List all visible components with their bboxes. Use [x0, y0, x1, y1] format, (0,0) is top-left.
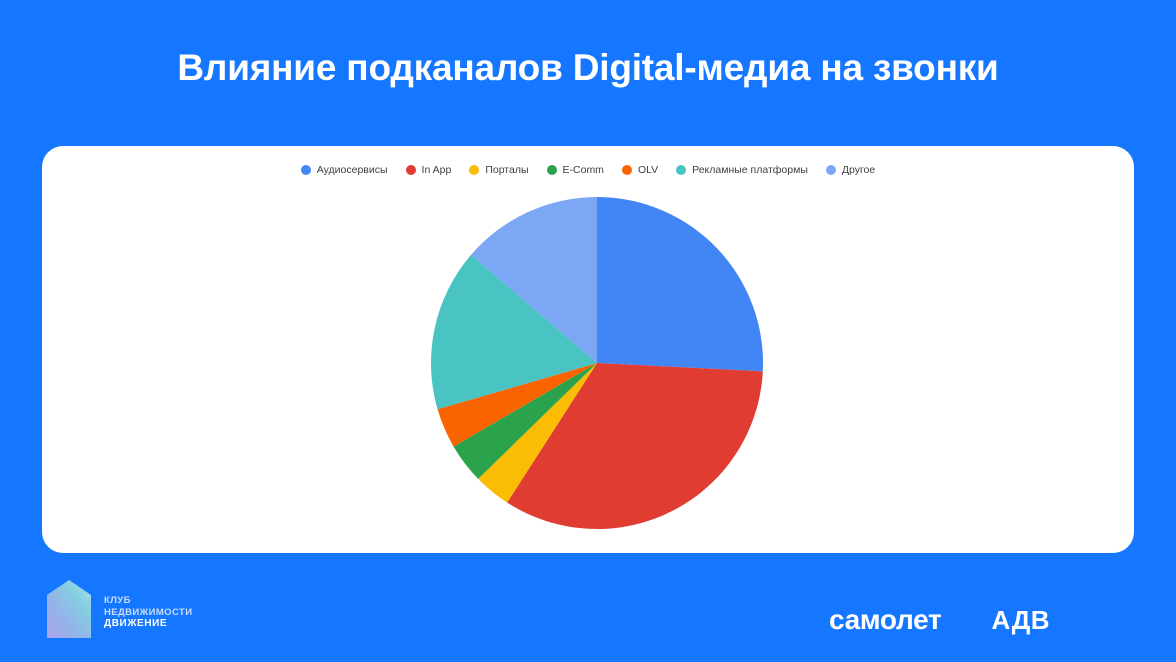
legend-item-label: E-Comm: [563, 165, 604, 176]
footer-brands: самолет АДВ: [829, 604, 1050, 636]
legend-item-label: In App: [422, 165, 452, 176]
pie-chart: [42, 146, 1134, 553]
legend-swatch-icon: [547, 165, 557, 175]
pie-slice[interactable]: [471, 197, 597, 363]
legend-item-label: Аудиосервисы: [317, 165, 388, 176]
legend-swatch-icon: [301, 165, 311, 175]
brand-samolet: самолет: [829, 604, 941, 636]
house-icon: [44, 578, 94, 640]
legend-item-label: Порталы: [485, 165, 528, 176]
logo-line-3: ДВИЖЕНИЕ: [104, 618, 192, 630]
legend-swatch-icon: [406, 165, 416, 175]
brand-adv: АДВ: [991, 605, 1050, 636]
page-title: Влияние подканалов Digital-медиа на звон…: [0, 47, 1176, 89]
legend-swatch-icon: [676, 165, 686, 175]
legend-item[interactable]: OLV: [622, 165, 658, 176]
legend-item[interactable]: Порталы: [469, 165, 528, 176]
pie-slice[interactable]: [478, 363, 597, 503]
pie-chart-svg: [429, 195, 765, 531]
legend-item[interactable]: In App: [406, 165, 452, 176]
chart-legend: АудиосервисыIn AppПорталыE-CommOLVРеклам…: [42, 165, 1134, 176]
pie-slice[interactable]: [597, 197, 763, 371]
legend-item-label: Другое: [842, 165, 875, 176]
chart-card: АудиосервисыIn AppПорталыE-CommOLVРеклам…: [42, 146, 1134, 553]
pie-slice[interactable]: [507, 363, 763, 529]
legend-item[interactable]: Рекламные платформы: [676, 165, 808, 176]
legend-item-label: Рекламные платформы: [692, 165, 808, 176]
legend-item[interactable]: Другое: [826, 165, 875, 176]
legend-swatch-icon: [622, 165, 632, 175]
pie-slice[interactable]: [454, 363, 597, 479]
legend-swatch-icon: [826, 165, 836, 175]
legend-swatch-icon: [469, 165, 479, 175]
legend-item-label: OLV: [638, 165, 658, 176]
club-logo-text: КЛУБ НЕДВИЖИМОСТИ ДВИЖЕНИЕ: [104, 587, 192, 630]
logo-line-1: КЛУБ: [104, 595, 192, 607]
club-logo: КЛУБ НЕДВИЖИМОСТИ ДВИЖЕНИЕ: [44, 578, 192, 640]
pie-slice[interactable]: [438, 363, 597, 447]
legend-item[interactable]: Аудиосервисы: [301, 165, 388, 176]
pie-slice[interactable]: [431, 255, 597, 410]
legend-item[interactable]: E-Comm: [547, 165, 604, 176]
logo-line-2: НЕДВИЖИМОСТИ: [104, 607, 192, 619]
